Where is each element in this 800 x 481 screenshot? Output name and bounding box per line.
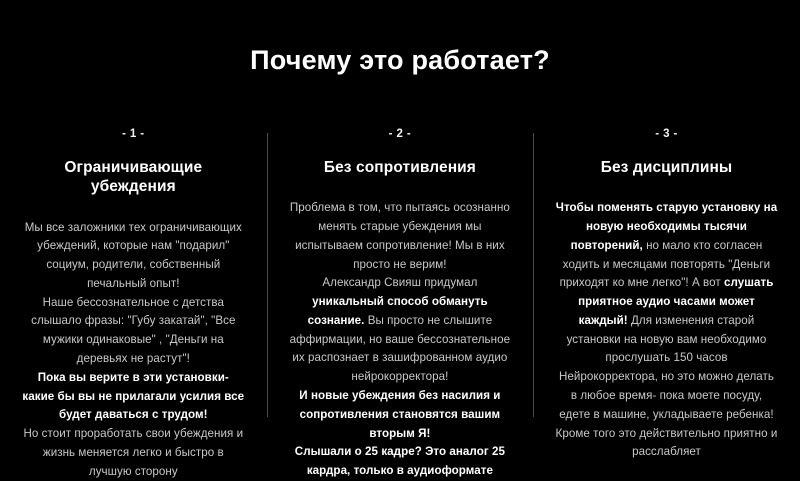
paragraph: Мы все заложники тех ограничивающих убеж… — [22, 219, 245, 294]
paragraph: Пока вы верите в эти установки- какие бы… — [22, 369, 245, 425]
paragraph: И новые убеждения без насилия и сопротив… — [289, 387, 512, 443]
text-segment: Проблема в том, что пытаясь осознанно ме… — [290, 201, 510, 270]
column-heading-1: Ограничивающие убеждения — [22, 158, 245, 197]
paragraph: Чтобы поменять старую установку на новую… — [555, 199, 778, 462]
paragraph: Слышали о 25 кадре? Это аналог 25 кардра… — [289, 443, 512, 481]
column-body-1: Мы все заложники тех ограничивающих убеж… — [22, 219, 245, 481]
column-heading-2: Без сопротивления — [289, 158, 512, 177]
paragraph: Но стоит проработать свои убеждения и жи… — [22, 425, 245, 481]
paragraph: Александр Свияш придумал уникальный спос… — [289, 274, 512, 387]
paragraph: Проблема в том, что пытаясь осознанно ме… — [289, 199, 512, 274]
slide-root: Почему это работает? - 1 - Ограничивающи… — [0, 0, 800, 478]
column-3: - 3 - Без дисциплины Чтобы поменять стар… — [533, 128, 800, 462]
text-segment: Но стоит проработать свои убеждения и жи… — [23, 427, 243, 478]
column-2: - 2 - Без сопротивления Проблема в том, … — [267, 128, 534, 481]
column-number-3: - 3 - — [555, 128, 778, 142]
text-segment: Для изменения старой установки на новую … — [556, 314, 778, 458]
columns-container: - 1 - Ограничивающие убеждения Мы все за… — [0, 128, 800, 481]
text-segment: Наше бессознательное с детства слышало ф… — [31, 296, 235, 365]
column-number-2: - 2 - — [289, 128, 512, 142]
text-segment-bold: И новые убеждения без насилия и сопротив… — [299, 389, 500, 440]
column-heading-3: Без дисциплины — [555, 158, 778, 177]
column-1: - 1 - Ограничивающие убеждения Мы все за… — [0, 128, 267, 481]
page-title: Почему это работает? — [0, 44, 800, 76]
column-body-2: Проблема в том, что пытаясь осознанно ме… — [289, 199, 512, 481]
text-segment-bold: Пока вы верите в эти установки- какие бы… — [22, 371, 244, 422]
text-segment: Мы все заложники тех ограничивающих убеж… — [25, 221, 242, 290]
column-body-3: Чтобы поменять старую установку на новую… — [555, 199, 778, 462]
paragraph: Наше бессознательное с детства слышало ф… — [22, 294, 245, 369]
column-number-1: - 1 - — [22, 128, 245, 142]
text-segment-bold: Слышали о 25 кадре? Это аналог 25 кардра… — [295, 445, 505, 477]
text-segment: Александр Свияш придумал — [322, 276, 477, 289]
